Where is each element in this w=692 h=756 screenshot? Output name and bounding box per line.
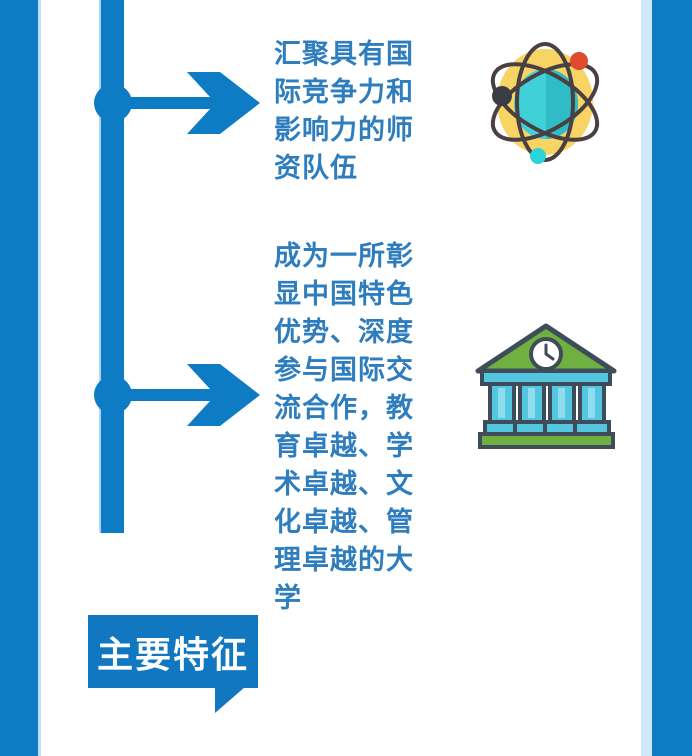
timeline-node-dot-2 (94, 376, 132, 414)
atom-electron-dark (492, 86, 512, 106)
building-columns (490, 384, 604, 422)
section-tag-bubble[interactable]: 主要特征 (88, 615, 258, 712)
building-column-3 (550, 384, 574, 422)
section-tag-bubble-tail (215, 687, 245, 713)
timeline-node-dot-1 (94, 84, 132, 122)
section-tag-label: 主要特征 (88, 615, 258, 688)
building-base-platform (480, 434, 613, 447)
arrow-marker-1 (85, 63, 260, 143)
atom-icon (480, 34, 610, 174)
right-blue-border (652, 0, 692, 756)
arrow-marker-2 (85, 355, 260, 435)
timeline-item-1-text: 汇聚具有国际竞争力和影响力的师资队伍 (274, 36, 429, 188)
atom-electron-red (570, 52, 588, 70)
timeline-item-2-text: 成为一所彰显中国特色优势、深度参与国际交流合作，教育卓越、学术卓越、文化卓越、管… (274, 238, 429, 618)
atom-electron-cyan (530, 148, 546, 164)
bank-building-icon (474, 318, 619, 458)
arrow-shape-2 (130, 364, 260, 426)
left-blue-border (0, 0, 38, 756)
building-column-2 (520, 384, 544, 422)
arrow-shape-1 (130, 72, 260, 134)
building-column-4 (580, 384, 604, 422)
left-light-blue-stripe (38, 0, 41, 756)
right-light-blue-stripe (641, 0, 652, 756)
building-column-1 (490, 384, 514, 422)
